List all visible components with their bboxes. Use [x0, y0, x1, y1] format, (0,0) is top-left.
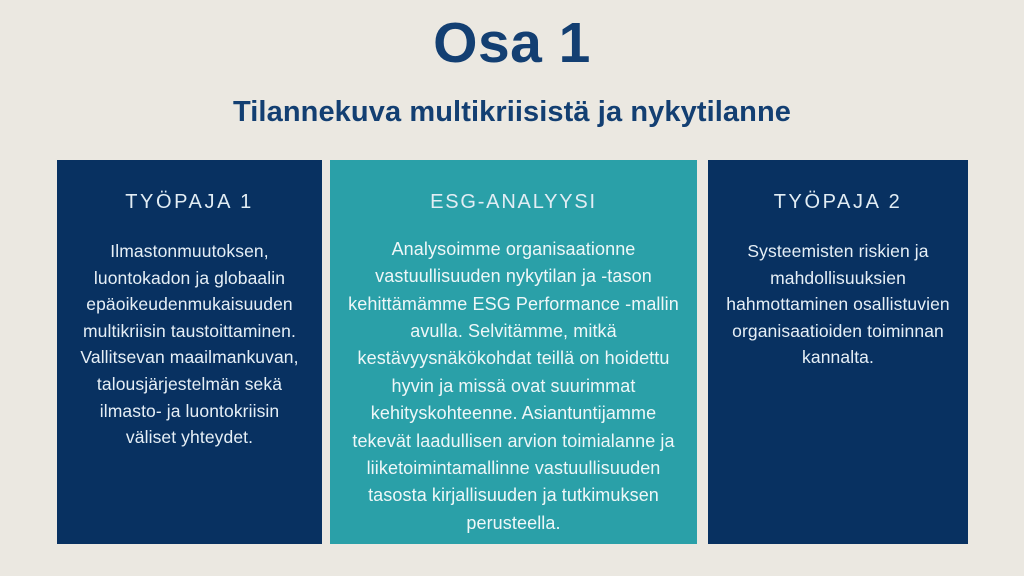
- card-body-tyopaja-2: Systeemisten riskien ja mahdollisuuksien…: [724, 238, 952, 371]
- card-esg-analyysi: ESG-ANALYYSI Analysoimme organisaationne…: [330, 160, 697, 544]
- page-subtitle: Tilannekuva multikriisistä ja nykytilann…: [0, 96, 1024, 129]
- card-header-tyopaja-1: TYÖPAJA 1: [73, 190, 306, 214]
- card-tyopaja-2: TYÖPAJA 2 Systeemisten riskien ja mahdol…: [708, 160, 968, 544]
- page-title: Osa 1: [0, 14, 1024, 74]
- card-body-esg-analyysi: Analysoimme organisaationne vastuullisuu…: [346, 236, 681, 537]
- slide-root: Osa 1 Tilannekuva multikriisistä ja nyky…: [0, 0, 1024, 576]
- card-tyopaja-1: TYÖPAJA 1 Ilmastonmuutoksen, luontokadon…: [57, 160, 322, 544]
- card-body-tyopaja-1: Ilmastonmuutoksen, luontokadon ja globaa…: [73, 238, 306, 451]
- card-group: TYÖPAJA 1 Ilmastonmuutoksen, luontokadon…: [57, 160, 968, 544]
- card-header-esg-analyysi: ESG-ANALYYSI: [346, 190, 681, 214]
- card-header-tyopaja-2: TYÖPAJA 2: [724, 190, 952, 214]
